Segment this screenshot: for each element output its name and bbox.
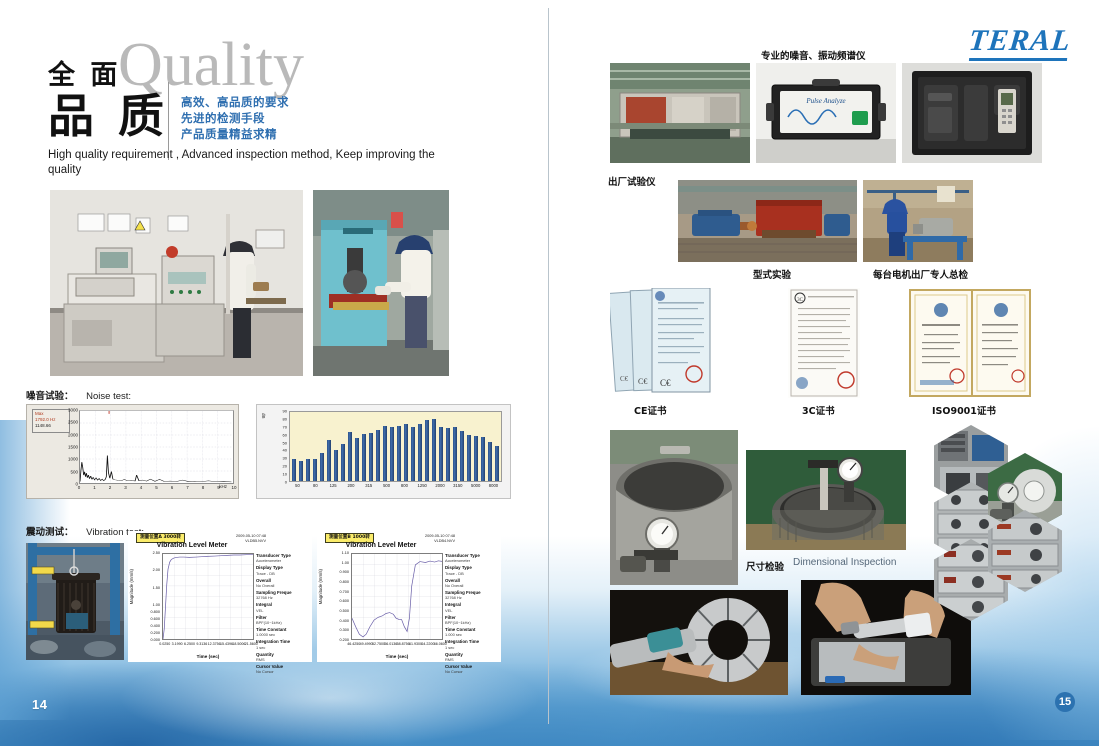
bars-x-tick: 1250 (418, 483, 427, 488)
photo-noise-test-lab (50, 190, 303, 376)
chart-noise-spectrum: Max 1792.0 Hz 1148.66 050010001500200025… (26, 404, 239, 499)
vibration-a-stamp: 2009-05-10 07:48 VLDB5.NVV (236, 534, 266, 544)
bar (425, 420, 429, 481)
bars-x-axis: 508012520031550080012502000315050008000 (289, 483, 502, 494)
vibration-x-tick: 61.9300 (409, 642, 422, 646)
bars-x-tick: 3150 (453, 483, 462, 488)
spectrum-x-axis: 012345678910kHz (79, 485, 234, 495)
vibration-y-tick: 2.50 (153, 551, 160, 555)
vibration-y-tick: 0.400 (150, 624, 160, 628)
bars-y-tick: 40 (283, 448, 287, 453)
bars-x-tick: 315 (365, 483, 372, 488)
chart-vibration-level-meter-b: 测量位置B 1000转 Vibration Level Meter 2009-0… (317, 531, 501, 662)
catalog-spread: Quality 全 面 品 质 高效、高品质的要求 先进的检测手段 产品质量精益… (0, 0, 1099, 746)
bar (453, 427, 457, 481)
section-caption-noise-cn: 噪音试验： (26, 391, 74, 402)
vibration-b-side-panel: Transducer TypeAccelerometerDisplay Type… (445, 553, 499, 676)
vibration-param-value: BPF(10~1kHz) (256, 620, 310, 625)
title-english-subtitle: High quality requirement , Advanced insp… (48, 148, 448, 178)
vibration-param-value: BPF(10~1kHz) (445, 620, 499, 625)
vibration-a-y-axis: 0.0000.2000.4000.6000.8001.001.502.002.5… (138, 553, 160, 640)
photo-type-test-rig (678, 180, 857, 262)
vibration-y-tick: 0.200 (150, 631, 160, 635)
vibration-param-value: 1.0000 sec (256, 632, 310, 637)
photo-ce-certificates: C€ C€ C€ (610, 288, 718, 398)
bar (495, 446, 499, 481)
spectrum-x-tick: 8 (202, 485, 205, 490)
photo-balancing-machine (313, 190, 449, 376)
decorative-quality-word: Quality (118, 34, 304, 96)
page-number-left: 14 (32, 697, 47, 712)
vibration-x-tick: 46.4250 (347, 642, 360, 646)
vibration-x-tick: 6.2500 (184, 642, 195, 646)
vibration-x-tick: 3.1990 (172, 642, 183, 646)
vibration-y-tick: 1.00 (342, 561, 349, 565)
vibration-x-tick: 52.7500 (372, 642, 385, 646)
vibration-b-x-label: Time (sec) (351, 654, 443, 659)
vibration-param-value: 1 sec (256, 645, 310, 650)
bar (299, 461, 303, 481)
spectrum-y-tick: 2000 (68, 432, 78, 437)
vibration-param-value: VEL (445, 608, 499, 613)
bar (390, 427, 394, 481)
vibration-b-plot-area (351, 553, 443, 640)
caption-iso9001-certificate: ISO9001证书 (932, 403, 996, 417)
photo-dial-gauge-housing (610, 430, 738, 585)
spectrum-y-tick: 1500 (68, 445, 78, 450)
bar (432, 419, 436, 481)
bars-x-tick: 200 (347, 483, 354, 488)
spectrum-x-tick: 0 (78, 485, 81, 490)
bar (376, 430, 380, 481)
vibration-a-file: VLDB5.NVV (236, 539, 266, 544)
spectrum-y-tick: 1000 (68, 457, 78, 462)
bar (439, 427, 443, 481)
caption-final-inspection: 每台电机出厂专人总检 (873, 267, 968, 281)
bar (348, 432, 352, 481)
bars-plot-area (289, 411, 502, 482)
bars-y-tick: 0 (285, 480, 287, 485)
vibration-param-value: Trace - DB (256, 571, 310, 576)
bar (383, 426, 387, 481)
bar (481, 437, 485, 481)
spectrum-y-tick: 2500 (68, 420, 78, 425)
photo-3c-certificate: 3C (788, 288, 860, 398)
vibration-x-tick: 9.3136 (196, 642, 207, 646)
bar (327, 440, 331, 481)
page-number-right: 15 (1055, 692, 1075, 712)
bars-x-tick: 50 (295, 483, 300, 488)
vibration-y-tick: 1.10 (342, 551, 349, 555)
caption-type-test: 型式实验 (753, 267, 791, 281)
vibration-x-tick: 58.8756 (397, 642, 410, 646)
vibration-param-value: Accelerometer (256, 558, 310, 563)
title-bullet-2: 先进的检测手段 (181, 110, 289, 126)
vibration-y-tick: 0.300 (339, 628, 349, 632)
teral-logo: TERAL (968, 24, 1073, 58)
vibration-x-tick: 12.3756 (208, 642, 221, 646)
svg-text:C€: C€ (638, 377, 647, 386)
bars-x-tick: 8000 (489, 483, 498, 488)
bar (446, 428, 450, 481)
bar (411, 427, 415, 481)
vibration-param-value: RMS (256, 657, 310, 662)
bar (418, 424, 422, 482)
spectrum-x-tick: 2 (109, 485, 112, 490)
vibration-b-x-axis: 46.425049.499052.750056.013658.875661.93… (351, 642, 443, 650)
page-title: Quality 全 面 品 质 高效、高品质的要求 先进的检测手段 产品质量精益… (48, 38, 388, 158)
title-bullet-3: 产品质量精益求精 (181, 126, 289, 142)
vibration-param-value: VEL (256, 608, 310, 613)
bar (404, 424, 408, 481)
vibration-a-x-label: Time (sec) (162, 654, 254, 659)
bar (341, 444, 345, 481)
vibration-a-plot-area (162, 553, 254, 640)
vibration-y-tick: 1.00 (153, 603, 160, 607)
spectrum-x-unit: kHz (219, 484, 227, 489)
vibration-param-value: 1 sec (445, 645, 499, 650)
bars-x-tick: 500 (383, 483, 390, 488)
vibration-param-value: Accelerometer (445, 558, 499, 563)
vibration-y-tick: 0.400 (339, 619, 349, 623)
bar (313, 459, 317, 481)
bar (369, 433, 373, 481)
bar (320, 453, 324, 481)
bar (362, 434, 366, 481)
bars-y-tick: 80 (283, 416, 287, 421)
spectrum-x-tick: 5 (155, 485, 158, 490)
bar (355, 438, 359, 481)
vibration-x-tick: 18.5006 (232, 642, 245, 646)
vibration-param-value: 32768 Hz (256, 595, 310, 600)
photo-stator-bore-measurement (746, 450, 906, 550)
spectrum-plot-area (79, 410, 234, 484)
photo-pulse-analyzer-case: Pulse Analyze (756, 63, 896, 163)
vibration-param-value: 1.000 sec (445, 632, 499, 637)
caption-spectrometer: 专业的噪音、振动频谱仪 (761, 48, 866, 62)
bar (397, 426, 401, 481)
vibration-y-tick: 0.800 (339, 580, 349, 584)
vibration-param-value: No Overall (256, 583, 310, 588)
svg-text:C€: C€ (660, 378, 671, 388)
bars-x-tick: 125 (330, 483, 337, 488)
photo-final-inspection (863, 180, 973, 262)
spectrum-x-tick: 1 (93, 485, 96, 490)
vibration-x-tick: 64.2200 (421, 642, 434, 646)
bars-y-tick: 30 (283, 456, 287, 461)
bars-x-tick: 800 (401, 483, 408, 488)
vibration-y-tick: 0.700 (339, 590, 349, 594)
svg-text:3C: 3C (797, 298, 804, 303)
vibration-a-side-panel: Transducer TypeAccelerometerDisplay Type… (256, 553, 310, 676)
bars-y-axis: 0102030405060708090 (271, 411, 287, 482)
caption-dimensional-inspection-en: Dimensional Inspection (793, 557, 896, 568)
title-bullet-1: 高效、高品质的要求 (181, 94, 289, 110)
svg-text:Pulse Analyze: Pulse Analyze (805, 97, 845, 105)
vibration-b-y-label: Magnitude (mm/s) (318, 569, 323, 604)
vibration-a-x-axis: 0.02503.19906.25009.313612.375615.439618… (162, 642, 254, 650)
vibration-b-file: VLDB4.NVV (425, 539, 455, 544)
title-cn-bottom: 品 质 (48, 93, 168, 139)
vibration-y-tick: 1.50 (153, 586, 160, 590)
photo-handheld-meter-case (902, 63, 1042, 163)
bar (474, 436, 478, 481)
section-caption-vibration: 震动测试： Vibration test: (26, 524, 144, 538)
bars-y-tick: 90 (283, 409, 287, 414)
vibration-param-value: Trace - DB (445, 571, 499, 576)
bar (488, 442, 492, 481)
bar (306, 459, 310, 481)
caption-dimensional-inspection-cn: 尺寸检验 (746, 559, 784, 573)
vibration-b-stamp: 2009-05-10 07:48 VLDB4.NVV (425, 534, 455, 544)
vibration-y-tick: 2.00 (153, 568, 160, 572)
section-caption-vibration-cn: 震动测试： (26, 527, 74, 538)
bar (334, 450, 338, 481)
vibration-param-value: 32768 Hz (445, 595, 499, 600)
photo-test-bench-panel (610, 63, 750, 163)
bars-y-tick: 50 (283, 440, 287, 445)
bars-y-tick: 70 (283, 424, 287, 429)
bar (467, 435, 471, 481)
vibration-y-tick: 0.900 (339, 570, 349, 574)
vibration-y-tick: 0.600 (150, 617, 160, 621)
vibration-y-tick: 0.600 (339, 599, 349, 603)
bar (460, 431, 464, 481)
chart-noise-octave-bands: dB 0102030405060708090 50801252003155008… (256, 404, 511, 499)
spectrum-y-axis: 050010001500200025003000 (59, 410, 78, 484)
vibration-b-y-axis: 0.2000.3000.4000.5000.6000.7000.8000.900… (327, 553, 349, 640)
spectrum-y-tick: 500 (70, 469, 78, 474)
spectrum-x-tick: 3 (124, 485, 127, 490)
right-page: TERAL 专业的噪音、振动频谱仪 Pulse (548, 0, 1099, 746)
caption-factory-tester: 出厂试验仪 (608, 174, 656, 188)
bars-x-tick: 2000 (435, 483, 444, 488)
photo-micrometer-rotor-lamination (610, 590, 788, 695)
vibration-param-value: No Overall (445, 583, 499, 588)
section-caption-noise-en: Noise test: (86, 391, 131, 402)
vibration-a-y-label: Magnitude (mm/s) (129, 569, 134, 604)
caption-ce-certificate: CE证书 (634, 403, 666, 417)
spectrum-x-tick: 7 (186, 485, 189, 490)
bars-y-tick: 20 (283, 464, 287, 469)
vibration-x-tick: 56.0136 (384, 642, 397, 646)
vibration-x-tick: 0.0250 (159, 642, 170, 646)
vibration-x-tick: 15.4396 (220, 642, 233, 646)
bars-y-tick: 60 (283, 432, 287, 437)
bars-y-unit-label: dB (261, 413, 266, 419)
vibration-y-tick: 0.800 (150, 610, 160, 614)
spectrum-y-tick: 3000 (68, 408, 78, 413)
caption-3c-certificate: 3C证书 (802, 403, 835, 417)
chart-vibration-level-meter-a: 测量位置A 3000转 Vibration Level Meter 2009-0… (128, 531, 312, 662)
spectrum-x-tick: 4 (140, 485, 143, 490)
vibration-y-tick: 0.500 (339, 609, 349, 613)
photo-vibration-test-setup (26, 543, 124, 660)
left-page: Quality 全 面 品 质 高效、高品质的要求 先进的检测手段 产品质量精益… (0, 0, 548, 746)
vibration-param-value: No Cursor (256, 669, 310, 674)
spectrum-x-tick: 6 (171, 485, 174, 490)
bars-y-tick: 10 (283, 472, 287, 477)
title-cn-top: 全 面 (48, 62, 120, 89)
section-caption-noise: 噪音试验： Noise test: (26, 388, 131, 402)
bars-x-tick: 5000 (471, 483, 480, 488)
photo-iso9001-certificates (908, 288, 1032, 398)
svg-text:C€: C€ (620, 375, 629, 383)
spectrum-x-tick: 10 (231, 485, 236, 490)
vibration-param-value: RMS (445, 657, 499, 662)
bars-x-tick: 80 (313, 483, 318, 488)
vibration-x-tick: 49.4990 (360, 642, 373, 646)
title-bullet-list: 高效、高品质的要求 先进的检测手段 产品质量精益求精 (181, 94, 289, 142)
bar (292, 459, 296, 481)
vibration-param-value: No Cursor (445, 669, 499, 674)
